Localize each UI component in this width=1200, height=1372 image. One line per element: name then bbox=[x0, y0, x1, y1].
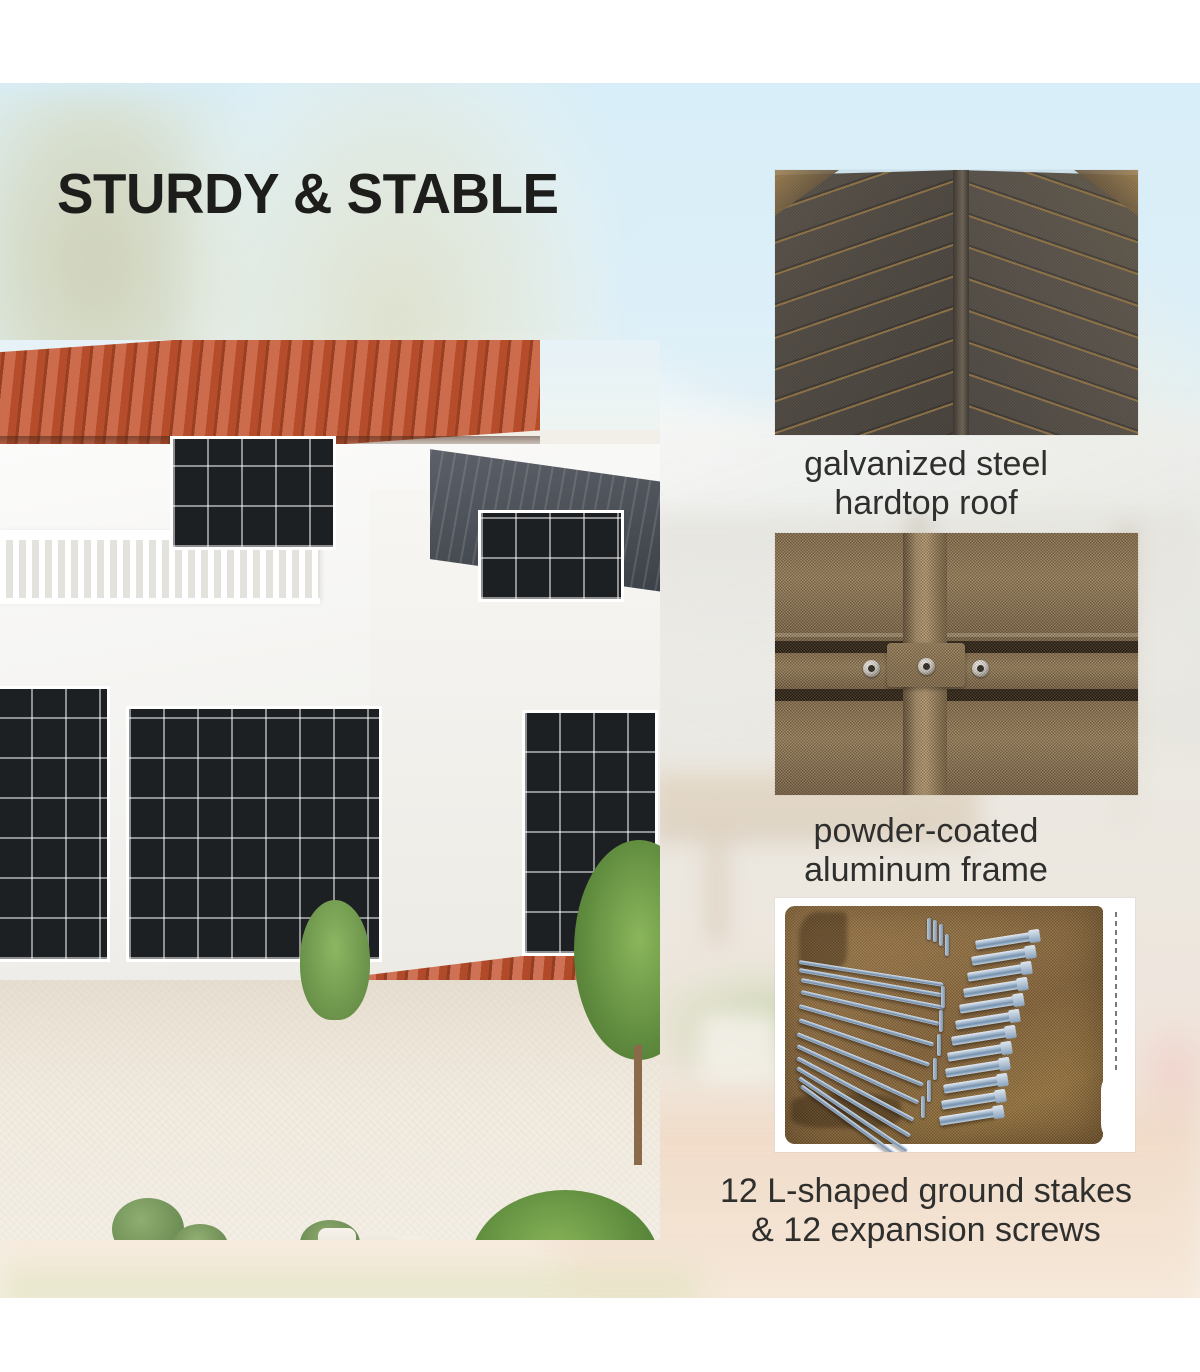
hero-door-left bbox=[0, 686, 110, 962]
caption-line-2: & 12 expansion screws bbox=[686, 1211, 1166, 1250]
feature-caption-hardware: 12 L-shaped ground stakes & 12 expansion… bbox=[686, 1172, 1166, 1251]
stake-hook bbox=[933, 1058, 937, 1080]
bottom-white-band bbox=[0, 1298, 1200, 1372]
page-title: STURDY & STABLE bbox=[57, 166, 559, 223]
stake-hook bbox=[927, 1080, 931, 1102]
background-planter-left bbox=[700, 1013, 780, 1093]
roof-texture-overlay bbox=[775, 170, 1138, 435]
hero-planter-pot bbox=[318, 1228, 356, 1240]
hero-window-upper-right bbox=[478, 510, 624, 602]
tree-trunk bbox=[634, 1045, 642, 1165]
caption-line-1: galvanized steel bbox=[691, 445, 1161, 484]
caption-line-1: powder-coated bbox=[691, 812, 1161, 851]
tree-canopy bbox=[470, 1190, 660, 1240]
stake-hook bbox=[921, 1096, 925, 1118]
top-white-band bbox=[0, 0, 1200, 83]
stake-hook bbox=[937, 1034, 941, 1056]
caption-line-2: hardtop roof bbox=[691, 484, 1161, 523]
hardware-card-notch bbox=[1101, 1070, 1135, 1144]
infographic-canvas: STURDY & STABLE bbox=[0, 0, 1200, 1372]
feature-image-hardware bbox=[775, 898, 1135, 1152]
feature-caption-roof: galvanized steel hardtop roof bbox=[691, 445, 1161, 524]
tree-canopy bbox=[574, 840, 660, 1060]
frame-powder-coat-texture bbox=[775, 533, 1138, 795]
hero-climbing-vine bbox=[300, 900, 370, 1020]
hero-window-upper bbox=[170, 436, 336, 550]
hero-olive-tree-tall bbox=[574, 840, 660, 1170]
hero-olive-tree bbox=[470, 1190, 660, 1240]
hero-planter-pot bbox=[362, 1232, 396, 1240]
hero-planter-pot bbox=[398, 1236, 428, 1240]
stake-hook bbox=[927, 918, 931, 940]
background-lawn-strip bbox=[0, 1269, 700, 1298]
feature-caption-frame: powder-coated aluminum frame bbox=[691, 812, 1161, 891]
stake-hook bbox=[941, 986, 945, 1008]
caption-line-1: 12 L-shaped ground stakes bbox=[686, 1172, 1166, 1211]
stake-hook bbox=[933, 920, 937, 942]
stake-hook bbox=[939, 1010, 943, 1032]
caption-line-2: aluminum frame bbox=[691, 851, 1161, 890]
hero-lifestyle-photo bbox=[0, 340, 660, 1240]
stake-hook bbox=[939, 924, 943, 946]
stake-hook bbox=[945, 934, 949, 956]
background-flower-blur bbox=[1130, 1013, 1200, 1133]
feature-image-galvanized-steel-roof bbox=[775, 170, 1138, 435]
feature-image-aluminum-frame bbox=[775, 533, 1138, 795]
